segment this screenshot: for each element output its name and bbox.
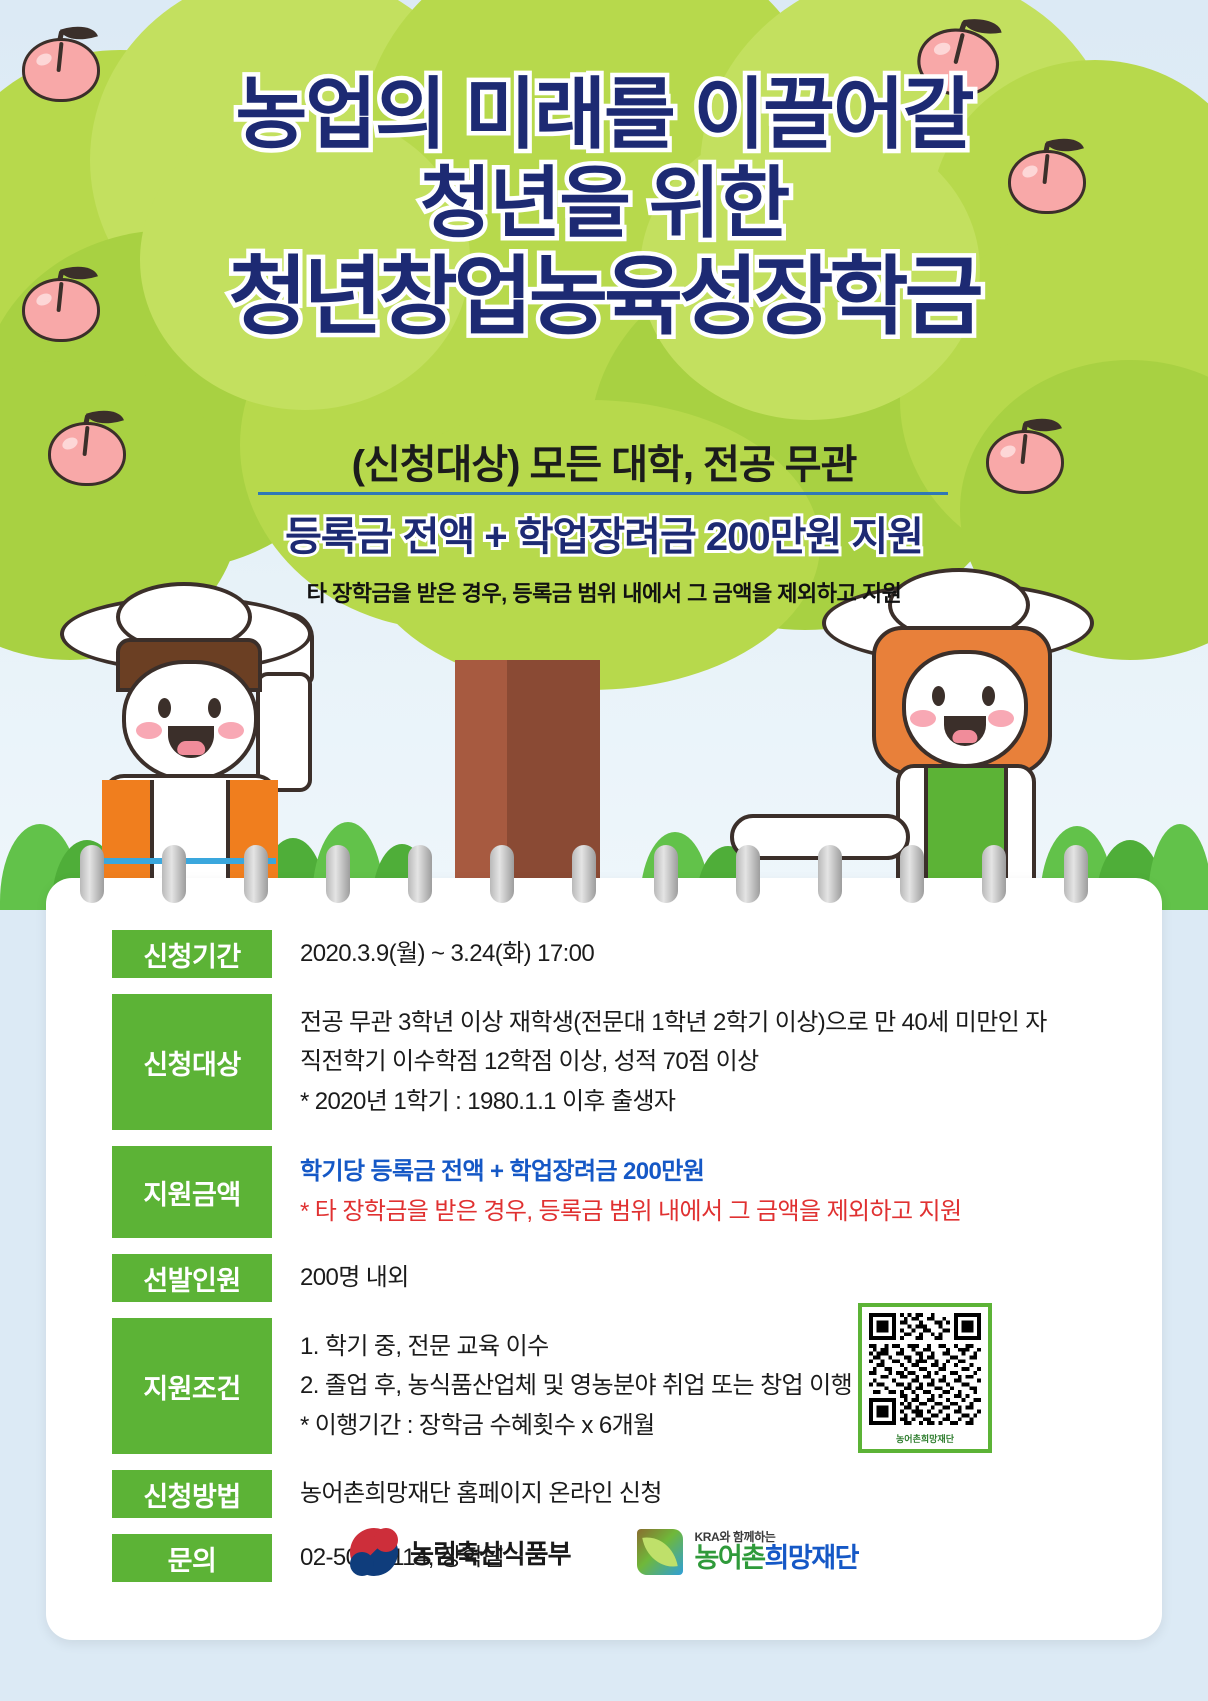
row-content: 200명 내외	[272, 1254, 1112, 1302]
poster-root: 농업의 미래를 이끌어갈 청년을 위한 청년창업농육성장학금 (신청대상) 모든…	[0, 0, 1208, 1701]
taegeuk-icon	[350, 1528, 398, 1576]
foundation-text: KRA와 함께하는 농어촌희망재단	[695, 1531, 858, 1574]
poster-headline: 농업의 미래를 이끌어갈 청년을 위한 청년창업농육성장학금	[0, 70, 1208, 346]
table-row: 신청대상 전공 무관 3학년 이상 재학생(전문대 1학년 2학기 이상)으로 …	[112, 994, 1112, 1130]
headline-line-2: 청년을 위한	[0, 159, 1208, 248]
qr-code-icon	[868, 1313, 982, 1425]
ministry-name: 농림축산식품부	[410, 1534, 570, 1571]
foundation-logo: KRA와 함께하는 농어촌희망재단	[637, 1529, 858, 1575]
amount-banner: 등록금 전액 + 학업장려금 200만원 지원	[0, 504, 1208, 562]
row-content: 농어촌희망재단 홈페이지 온라인 신청	[272, 1470, 1112, 1518]
foundation-name-blue: 희망재단	[765, 1543, 858, 1573]
qr-code-box[interactable]: 농어촌희망재단	[858, 1303, 992, 1453]
row-tag: 신청방법	[112, 1470, 272, 1518]
foundation-name-green: 농어촌	[695, 1543, 765, 1573]
info-table: 신청기간 2020.3.9(월) ~ 3.24(화) 17:00 신청대상 전공…	[112, 930, 1112, 1598]
row-tag: 신청기간	[112, 930, 272, 978]
top-note: 타 장학금을 받은 경우, 등록금 범위 내에서 그 금액을 제외하고 지원	[0, 576, 1208, 608]
row-line: 전공 무관 3학년 이상 재학생(전문대 1학년 2학기 이상)으로 만 40세…	[300, 1003, 1112, 1043]
poster-subtitle: (신청대상) 모든 대학, 전공 무관	[0, 432, 1208, 490]
headline-line-1: 농업의 미래를 이끌어갈	[0, 70, 1208, 159]
row-tag: 지원조건	[112, 1318, 272, 1454]
table-row: 선발인원 200명 내외	[112, 1254, 1112, 1302]
notebook-rings	[46, 845, 1162, 909]
row-line-warning: * 타 장학금을 받은 경우, 등록금 범위 내에서 그 금액을 제외하고 지원	[300, 1192, 1112, 1232]
row-content: 전공 무관 3학년 이상 재학생(전문대 1학년 2학기 이상)으로 만 40세…	[272, 994, 1112, 1130]
row-line-highlight: 학기당 등록금 전액 + 학업장려금 200만원	[300, 1152, 1112, 1192]
row-line: * 2020년 1학기 : 1980.1.1 이후 출생자	[300, 1082, 1112, 1122]
row-line: 2020.3.9(월) ~ 3.24(화) 17:00	[300, 934, 1112, 974]
row-line: 200명 내외	[300, 1258, 1112, 1298]
row-line: 농어촌희망재단 홈페이지 온라인 신청	[300, 1474, 1112, 1514]
table-row: 지원금액 학기당 등록금 전액 + 학업장려금 200만원 * 타 장학금을 받…	[112, 1146, 1112, 1238]
row-tag: 지원금액	[112, 1146, 272, 1238]
row-content: 2020.3.9(월) ~ 3.24(화) 17:00	[272, 930, 1112, 978]
qr-code-label: 농어촌희망재단	[862, 1432, 988, 1445]
row-tag: 신청대상	[112, 994, 272, 1130]
headline-line-3: 청년창업농육성장학금	[0, 248, 1208, 346]
foundation-name: 농어촌희망재단	[695, 1544, 858, 1574]
headline-divider	[258, 492, 948, 495]
table-row: 신청방법 농어촌희망재단 홈페이지 온라인 신청	[112, 1470, 1112, 1518]
row-content: 학기당 등록금 전액 + 학업장려금 200만원 * 타 장학금을 받은 경우,…	[272, 1146, 1112, 1238]
leaf-icon	[637, 1529, 683, 1575]
row-tag: 선발인원	[112, 1254, 272, 1302]
row-line: 직전학기 이수학점 12학점 이상, 성적 70점 이상	[300, 1042, 1112, 1082]
info-card: 신청기간 2020.3.9(월) ~ 3.24(화) 17:00 신청대상 전공…	[46, 878, 1162, 1640]
footer-logos: 농림축산식품부 KRA와 함께하는 농어촌희망재단	[46, 1528, 1162, 1576]
ministry-logo: 농림축산식품부	[350, 1528, 570, 1576]
table-row: 신청기간 2020.3.9(월) ~ 3.24(화) 17:00	[112, 930, 1112, 978]
